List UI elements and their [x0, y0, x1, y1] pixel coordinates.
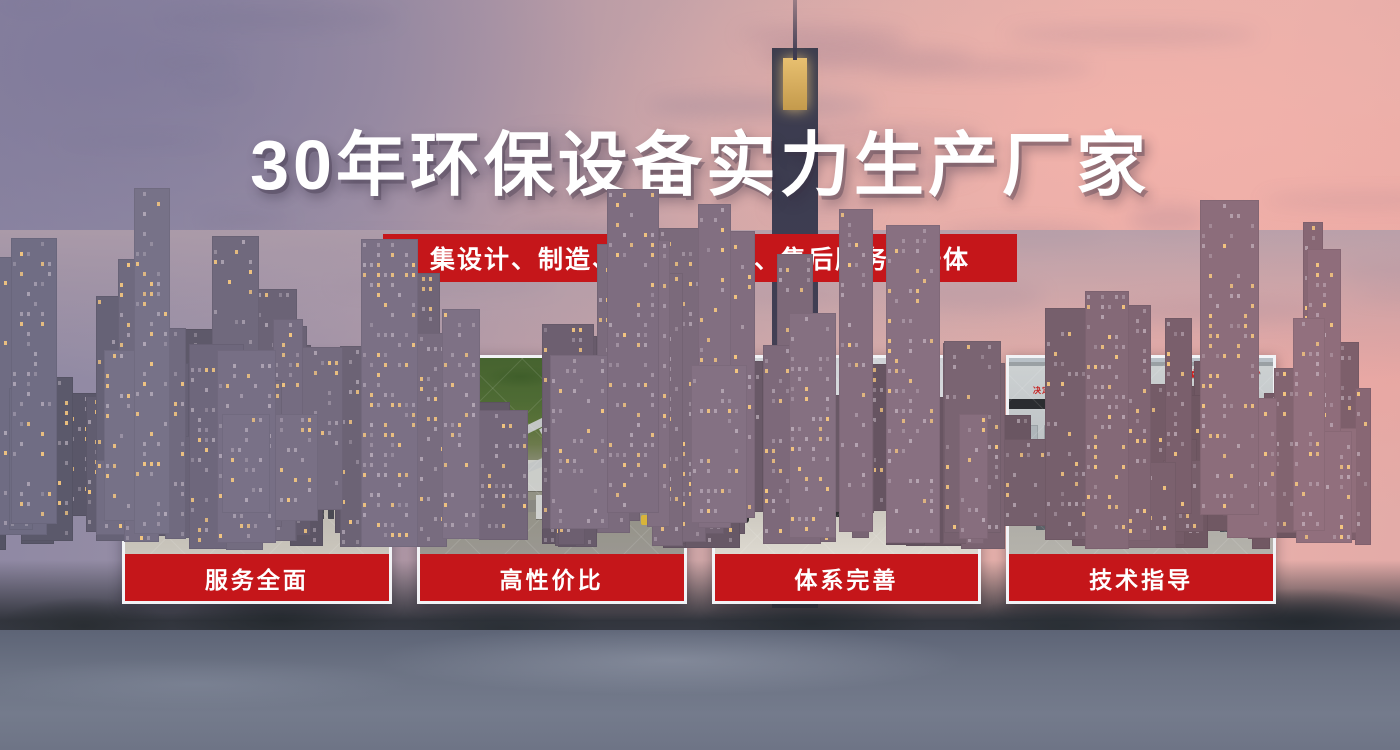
card-caption-bar: 技术指导: [1009, 554, 1273, 601]
card-caption-label: 服务全面: [205, 561, 309, 595]
tower-antenna-spire: [793, 0, 797, 60]
river-water: [0, 630, 1400, 750]
promotional-banner: 30年环保设备实力生产厂家 集设计、制造、安装、调试、售后服务于一体 中蓝机械 …: [0, 0, 1400, 750]
card-caption-bar: 服务全面: [125, 554, 389, 601]
card-caption-bar: 高性价比: [420, 554, 684, 601]
card-caption-label: 技术指导: [1089, 561, 1193, 595]
page-title: 30年环保设备实力生产厂家: [0, 130, 1400, 200]
water-reflection: [0, 630, 1400, 750]
tower-crown-light: [783, 58, 807, 110]
card-caption-bar: 体系完善: [715, 554, 979, 601]
card-caption-label: 体系完善: [794, 561, 898, 595]
card-caption-label: 高性价比: [500, 561, 604, 595]
